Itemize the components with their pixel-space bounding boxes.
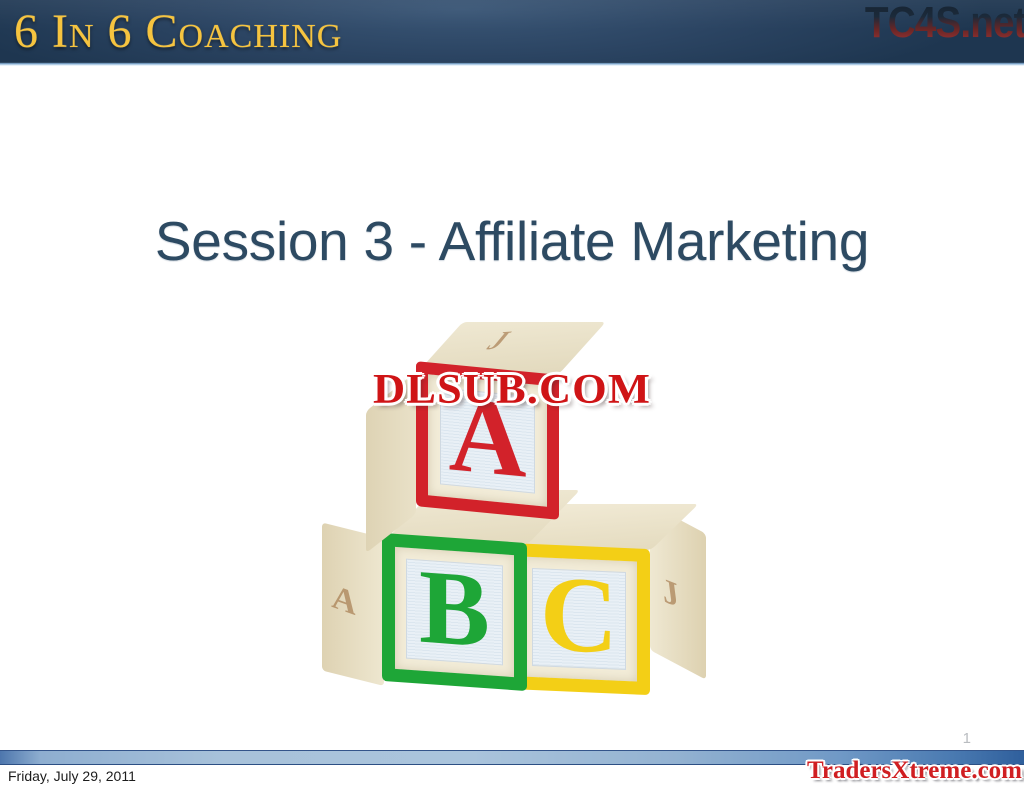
- block-c-etch-glyph: J: [659, 570, 681, 617]
- block-b-side-face: A: [322, 523, 384, 686]
- block-a-letter: A: [441, 389, 534, 493]
- block-c-front-face: C: [508, 543, 650, 695]
- footer-date: Friday, July 29, 2011: [8, 768, 136, 784]
- block-c-letter: C: [533, 569, 625, 669]
- block-a-etch-glyph: J: [479, 326, 518, 357]
- footer-logo-tradersxtreme: TradersXtreme.com: [807, 757, 1022, 785]
- slide-header-band: 6 In 6 Coaching TC4S.net: [0, 0, 1024, 62]
- page-title: Session 3 - Affiliate Marketing: [0, 209, 1024, 273]
- block-b-etch-glyph: A: [330, 578, 358, 623]
- brand-title: 6 In 6 Coaching: [14, 4, 342, 60]
- block-b-letter: B: [407, 560, 502, 665]
- site-logo-tc4s: TC4S.net: [865, 0, 1024, 50]
- block-b-front-face: B: [382, 533, 527, 691]
- abc-blocks-image: J C A B J: [312, 318, 702, 708]
- presentation-slide: 6 In 6 Coaching TC4S.net Session 3 - Aff…: [0, 0, 1024, 788]
- block-b-letter-panel: B: [406, 559, 503, 666]
- page-number: 1: [963, 730, 971, 747]
- block-c-letter-panel: C: [532, 568, 626, 670]
- block-a-letter-panel: A: [440, 387, 535, 493]
- header-underline-rule: [0, 62, 1024, 66]
- block-a-front-face: A: [416, 361, 559, 520]
